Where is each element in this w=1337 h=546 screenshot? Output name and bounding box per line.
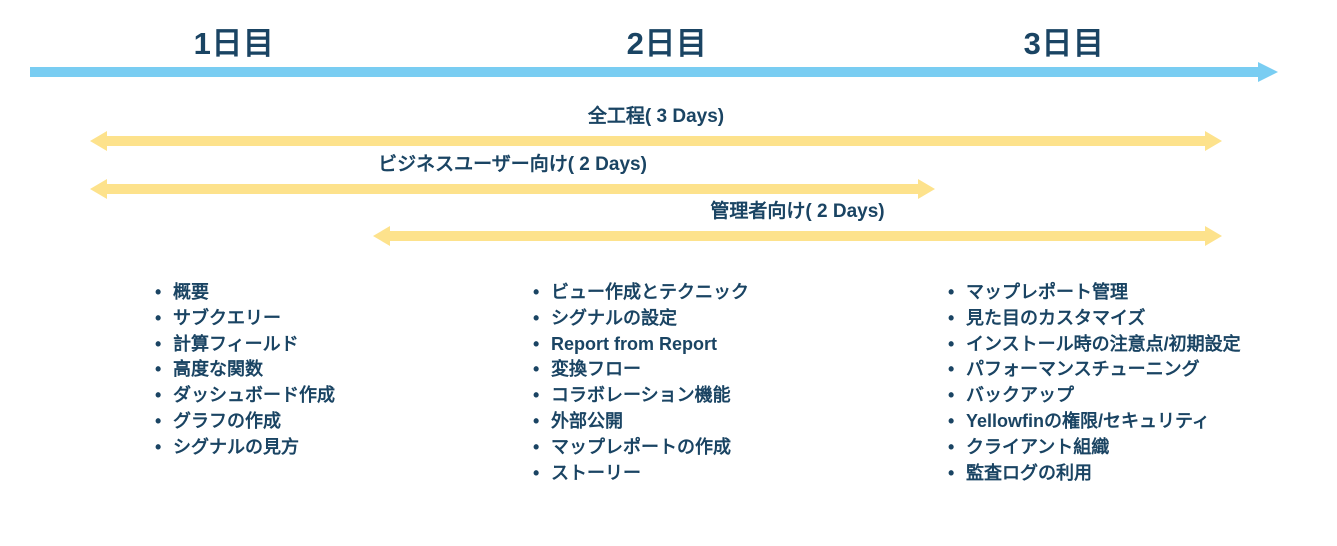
list-item: • グラフの作成 xyxy=(155,409,335,435)
topic-label: バックアップ xyxy=(966,385,1074,405)
bullet-icon: • xyxy=(155,306,161,332)
phase-label-all: 全工程( 3 Days) xyxy=(90,104,1222,130)
topic-list-day-1: • 概要 • サブクエリー • 計算フィールド • 高度な関数 • ダッシュボー… xyxy=(155,280,335,461)
topic-label: クライアント組織 xyxy=(966,437,1109,457)
list-item: • シグナルの見方 xyxy=(155,435,335,461)
topic-label: 見た目のカスタマイズ xyxy=(966,308,1145,328)
topic-label: インストール時の注意点/初期設定 xyxy=(966,334,1241,354)
topic-label: コラボレーション機能 xyxy=(551,385,731,405)
topic-label: マップレポートの作成 xyxy=(551,437,731,457)
topic-label: ストーリー xyxy=(551,463,641,483)
topic-label: 計算フィールド xyxy=(173,334,299,354)
bullet-icon: • xyxy=(948,409,954,435)
phase-label-business-user: ビジネスユーザー向け( 2 Days) xyxy=(90,152,935,178)
day-heading-1: 1日目 xyxy=(194,18,275,63)
timeline-arrow-icon xyxy=(30,62,1278,82)
bullet-icon: • xyxy=(948,357,954,383)
list-item: • マップレポートの作成 xyxy=(533,435,749,461)
bullet-icon: • xyxy=(533,332,539,358)
list-item: • インストール時の注意点/初期設定 xyxy=(948,332,1241,358)
topic-label: シグナルの見方 xyxy=(173,437,299,457)
phase-row-business-user: ビジネスユーザー向け( 2 Days) xyxy=(90,152,935,204)
list-item: • 概要 xyxy=(155,280,335,306)
bullet-icon: • xyxy=(155,435,161,461)
list-item: • Report from Report xyxy=(533,332,749,358)
topic-label: Yellowfinの権限/セキュリティ xyxy=(966,411,1210,431)
topic-label: 外部公開 xyxy=(551,411,623,431)
bullet-icon: • xyxy=(533,383,539,409)
topic-label: 高度な関数 xyxy=(173,359,263,379)
list-item: • Yellowfinの権限/セキュリティ xyxy=(948,409,1241,435)
day-heading-2: 2日目 xyxy=(627,18,708,63)
topic-label: マップレポート管理 xyxy=(966,282,1128,302)
topic-label: ダッシュボード作成 xyxy=(173,385,335,405)
double-arrow-icon-business-user xyxy=(90,178,935,200)
timeline-axis xyxy=(30,62,1278,82)
double-arrow-icon-administrator xyxy=(373,225,1222,247)
list-item: • バックアップ xyxy=(948,383,1241,409)
topic-list-day-3: • マップレポート管理 • 見た目のカスタマイズ • インストール時の注意点/初… xyxy=(948,280,1241,486)
list-item: • 見た目のカスタマイズ xyxy=(948,306,1241,332)
list-item: • シグナルの設定 xyxy=(533,306,749,332)
list-item: • クライアント組織 xyxy=(948,435,1241,461)
topic-label: 監査ログの利用 xyxy=(966,463,1092,483)
bullet-icon: • xyxy=(948,461,954,487)
topic-label: グラフの作成 xyxy=(173,411,281,431)
bullet-icon: • xyxy=(948,435,954,461)
bullet-icon: • xyxy=(533,357,539,383)
list-item: • ビュー作成とテクニック xyxy=(533,280,749,306)
list-item: • パフォーマンスチューニング xyxy=(948,357,1241,383)
topic-column-day-2: • ビュー作成とテクニック • シグナルの設定 • Report from Re… xyxy=(533,280,749,486)
topic-column-day-3: • マップレポート管理 • 見た目のカスタマイズ • インストール時の注意点/初… xyxy=(948,280,1241,486)
list-item: • 高度な関数 xyxy=(155,357,335,383)
bullet-icon: • xyxy=(948,383,954,409)
list-item: • ストーリー xyxy=(533,461,749,487)
list-item: • 監査ログの利用 xyxy=(948,461,1241,487)
bullet-icon: • xyxy=(948,332,954,358)
bullet-icon: • xyxy=(533,306,539,332)
list-item: • 変換フロー xyxy=(533,357,749,383)
topic-label: Report from Report xyxy=(551,334,717,354)
bullet-icon: • xyxy=(948,280,954,306)
bullet-icon: • xyxy=(533,409,539,435)
double-arrow-icon-all xyxy=(90,130,1222,152)
bullet-icon: • xyxy=(533,280,539,306)
list-item: • 外部公開 xyxy=(533,409,749,435)
bullet-icon: • xyxy=(155,280,161,306)
topic-list-day-2: • ビュー作成とテクニック • シグナルの設定 • Report from Re… xyxy=(533,280,749,486)
bullet-icon: • xyxy=(948,306,954,332)
phase-row-all: 全工程( 3 Days) xyxy=(90,104,1222,156)
list-item: • コラボレーション機能 xyxy=(533,383,749,409)
topic-label: シグナルの設定 xyxy=(551,308,677,328)
list-item: • サブクエリー xyxy=(155,306,335,332)
topic-label: パフォーマンスチューニング xyxy=(966,359,1200,379)
list-item: • ダッシュボード作成 xyxy=(155,383,335,409)
bullet-icon: • xyxy=(533,435,539,461)
bullet-icon: • xyxy=(533,461,539,487)
phase-label-administrator: 管理者向け( 2 Days) xyxy=(373,199,1222,225)
topic-label: ビュー作成とテクニック xyxy=(551,282,749,302)
topic-label: 変換フロー xyxy=(551,359,641,379)
bullet-icon: • xyxy=(155,409,161,435)
bullet-icon: • xyxy=(155,357,161,383)
day-heading-3: 3日目 xyxy=(1024,18,1105,63)
list-item: • マップレポート管理 xyxy=(948,280,1241,306)
list-item: • 計算フィールド xyxy=(155,332,335,358)
topic-label: 概要 xyxy=(173,282,209,302)
bullet-icon: • xyxy=(155,383,161,409)
phase-row-administrator: 管理者向け( 2 Days) xyxy=(373,199,1222,251)
topic-column-day-1: • 概要 • サブクエリー • 計算フィールド • 高度な関数 • ダッシュボー… xyxy=(155,280,335,461)
bullet-icon: • xyxy=(155,332,161,358)
topic-label: サブクエリー xyxy=(173,308,281,328)
